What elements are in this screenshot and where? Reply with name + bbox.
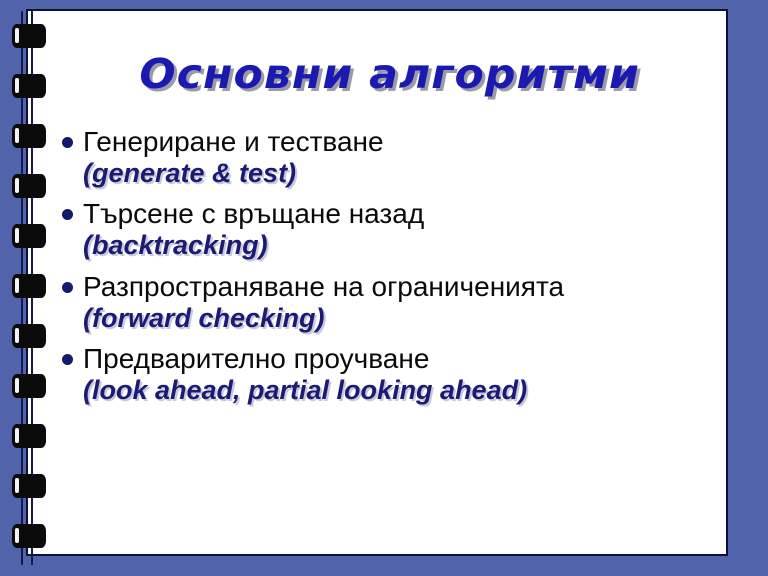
list-item: Търсене с връщане назад (backtracking) [62,198,718,261]
binding-ring [12,374,46,398]
bullet-list: Генериране и тестване (generate & test) … [62,126,718,416]
slide-title: Основни алгоритми [140,54,641,95]
binding-ring [12,174,46,198]
list-item: Предварително проучване (look ahead, par… [62,343,718,406]
bullet-circle-icon [62,354,73,365]
list-item-primary-line: Предварително проучване [62,343,718,375]
list-item: Генериране и тестване (generate & test) [62,126,718,189]
binding-ring [12,224,46,248]
binding-ring [12,324,46,348]
slide: Основни алгоритми Генериране и тестване … [0,0,768,576]
slide-title-container: Основни алгоритми [60,54,720,95]
list-item-label-bg: Разпространяване на ограниченията [83,271,564,303]
list-item-label-bg: Предварително проучване [83,343,429,375]
binding-ring [12,424,46,448]
list-item-label-bg: Генериране и тестване [83,126,384,158]
list-item-primary-line: Генериране и тестване [62,126,718,158]
border-band-top [0,0,768,9]
bullet-circle-icon [62,137,73,148]
list-item-label-en: (backtracking) [83,230,718,262]
list-item: Разпространяване на ограниченията (forwa… [62,271,718,334]
list-item-label-en: (look ahead, partial looking ahead) [83,375,718,407]
border-band-bottom [0,556,768,576]
list-item-primary-line: Разпространяване на ограниченията [62,271,718,303]
binding-ring [12,124,46,148]
list-item-primary-line: Търсене с връщане назад [62,198,718,230]
binding-ring [12,274,46,298]
spiral-binding [0,0,60,576]
binding-ring [12,74,46,98]
binding-ring [12,24,46,48]
binding-ring [12,524,46,548]
border-band-right [728,0,768,576]
binding-ring [12,474,46,498]
list-item-label-en: (forward checking) [83,303,718,335]
bullet-circle-icon [62,209,73,220]
bullet-circle-icon [62,282,73,293]
list-item-label-en: (generate & test) [83,158,718,190]
list-item-label-bg: Търсене с връщане назад [83,198,424,230]
